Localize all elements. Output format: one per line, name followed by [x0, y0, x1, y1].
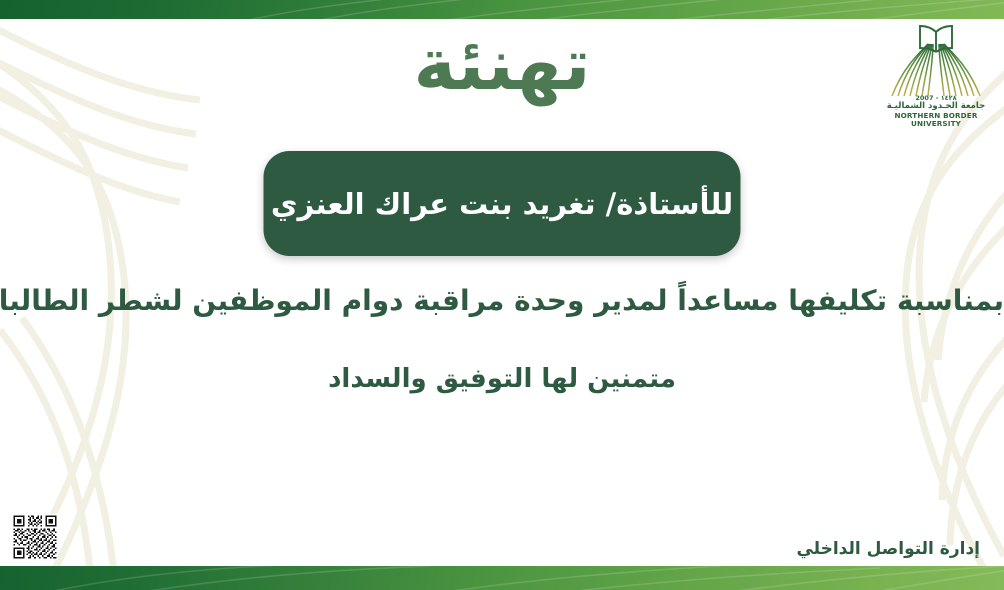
northern-border-university-logo: 2007 - ١٤٢٨ جامعة الحـدود الشماليـة NORT… — [880, 22, 992, 126]
honoree-plaque: للأستاذة/ تغريد بنت عراك العنزي — [264, 151, 741, 256]
congratulation-calligraphy: تهنئة — [0, 28, 1004, 133]
congratulation-poster: تهنئة — [0, 0, 1004, 590]
bottom-banner — [0, 566, 1004, 590]
open-book-icon — [880, 22, 992, 96]
logo-english-name: NORTHERN BORDER UNIVERSITY — [880, 112, 992, 129]
occasion-text: بمناسبة تكليفها مساعداً لمدير وحدة مراقب… — [0, 284, 1004, 317]
wish-text: متمنين لها التوفيق والسداد — [0, 364, 1004, 394]
top-banner — [0, 0, 1004, 19]
calligraphy-word: تهنئة — [413, 22, 590, 106]
department-label: إدارة التواصل الداخلي — [796, 539, 980, 559]
qr-code[interactable] — [12, 514, 58, 560]
honoree-name: للأستاذة/ تغريد بنت عراك العنزي — [271, 187, 733, 221]
